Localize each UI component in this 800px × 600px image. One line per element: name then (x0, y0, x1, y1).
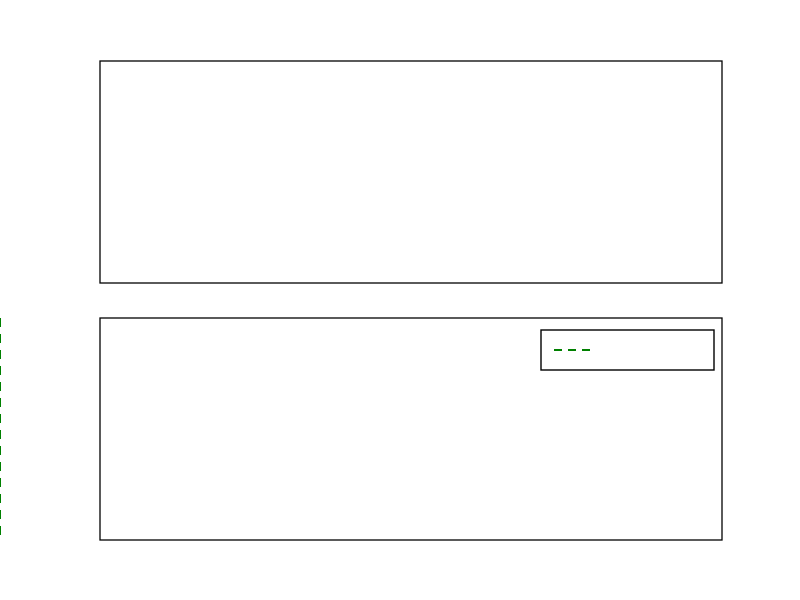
legend[interactable] (541, 330, 714, 370)
top-plot-frame (100, 61, 722, 283)
bottom-panel (0, 318, 722, 540)
figure-canvas (0, 0, 800, 600)
plot-svg (0, 0, 800, 600)
legend-box (541, 330, 714, 370)
top-panel (100, 61, 722, 283)
